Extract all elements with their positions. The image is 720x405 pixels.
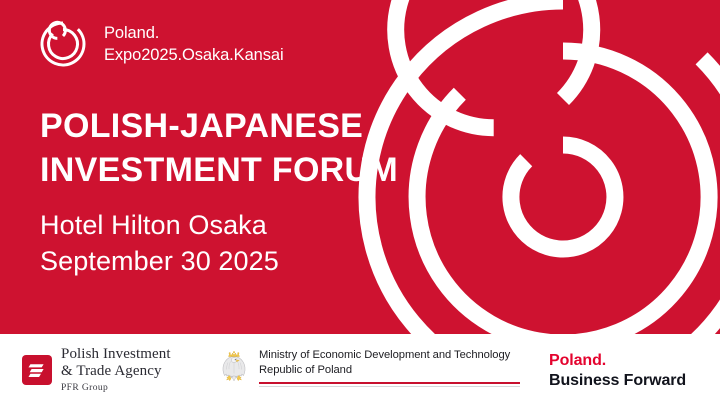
brand-line-2: Expo2025.Osaka.Kansai	[104, 44, 284, 66]
ministry-logo-text: Ministry of Economic Development and Tec…	[259, 347, 520, 387]
polish-eagle-emblem	[216, 348, 252, 386]
paih-line-2: & Trade Agency	[61, 363, 171, 380]
paih-logo: Polish Investment & Trade Agency PFR Gro…	[22, 346, 171, 395]
paih-logo-text: Polish Investment & Trade Agency PFR Gro…	[61, 346, 171, 395]
event-title-line-1: POLISH-JAPANESE	[40, 104, 398, 148]
event-banner: Poland. Expo2025.Osaka.Kansai POLISH-JAP…	[0, 0, 720, 405]
ministry-logo: Ministry of Economic Development and Tec…	[216, 347, 520, 387]
large-spiral-watermark	[348, 0, 720, 334]
brand-lockup-text: Poland. Expo2025.Osaka.Kansai	[104, 22, 284, 66]
pfr-bars-icon	[22, 355, 52, 385]
hero-panel: Poland. Expo2025.Osaka.Kansai POLISH-JAP…	[0, 0, 720, 334]
event-venue: Hotel Hilton Osaka	[40, 208, 279, 244]
event-title-line-2: INVESTMENT FORUM	[40, 148, 398, 192]
event-venue-date: Hotel Hilton Osaka September 30 2025	[40, 208, 279, 280]
paih-line-3: PFR Group	[61, 381, 171, 395]
ministry-flag-rule	[259, 382, 520, 387]
event-date: September 30 2025	[40, 244, 279, 280]
ministry-line-2: Republic of Poland	[259, 363, 520, 378]
poland-business-forward-logo: Poland. Business Forward	[549, 351, 686, 392]
poland-expo-spiral-logo	[38, 19, 88, 69]
pbf-line-2: Business Forward	[549, 371, 686, 391]
paih-line-1: Polish Investment	[61, 346, 171, 363]
ministry-line-1: Ministry of Economic Development and Tec…	[259, 348, 520, 363]
brand-lockup: Poland. Expo2025.Osaka.Kansai	[38, 19, 284, 69]
brand-line-1: Poland.	[104, 22, 284, 44]
pbf-line-1: Poland.	[549, 351, 686, 371]
partner-logo-footer: Polish Investment & Trade Agency PFR Gro…	[0, 334, 720, 405]
event-title: POLISH-JAPANESE INVESTMENT FORUM	[40, 104, 398, 192]
